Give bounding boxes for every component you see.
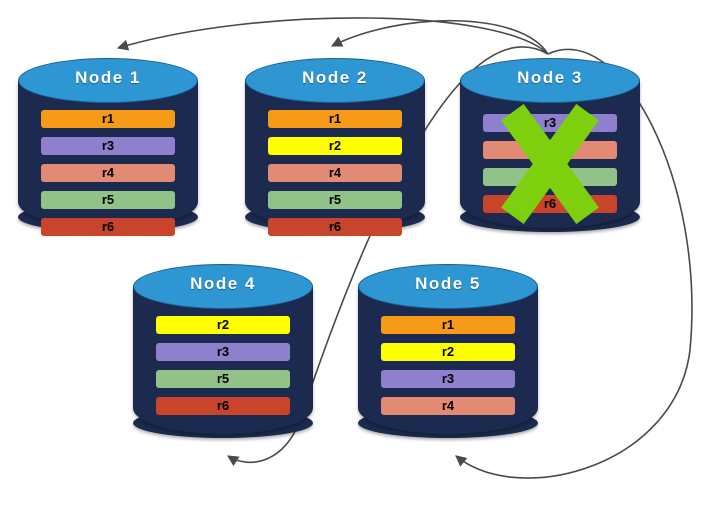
node-5[interactable]: Node 5r1r2r3r4 — [358, 264, 538, 440]
record-row[interactable]: r1 — [268, 110, 402, 128]
arrow-node3-to-node2 — [332, 21, 548, 54]
node-title: Node 5 — [358, 274, 538, 294]
record-row[interactable]: r1 — [41, 110, 175, 128]
arrow-node3-to-node1 — [118, 18, 548, 54]
record-list: r1r3r4r5r6 — [18, 110, 198, 245]
record-row[interactable]: r1 — [381, 316, 515, 334]
diagram-canvas: Node 1r1r3r4r5r6Node 2r1r2r4r5r6Node 3r3… — [0, 0, 708, 508]
record-row[interactable]: r5 — [41, 191, 175, 209]
node-title: Node 3 — [460, 68, 640, 88]
node-2[interactable]: Node 2r1r2r4r5r6 — [245, 58, 425, 234]
record-row[interactable]: r2 — [381, 343, 515, 361]
node-3[interactable]: Node 3r3r4r5r6 — [460, 58, 640, 234]
record-row[interactable]: r6 — [268, 218, 402, 236]
record-list: r1r2r3r4 — [358, 316, 538, 424]
node-title: Node 2 — [245, 68, 425, 88]
record-row[interactable]: r6 — [156, 397, 290, 415]
record-list: r1r2r4r5r6 — [245, 110, 425, 245]
node-1[interactable]: Node 1r1r3r4r5r6 — [18, 58, 198, 234]
record-row[interactable]: r3 — [41, 137, 175, 155]
node-4[interactable]: Node 4r2r3r5r6 — [133, 264, 313, 440]
record-row[interactable]: r3 — [381, 370, 515, 388]
record-row[interactable]: r6 — [41, 218, 175, 236]
record-row[interactable]: r2 — [268, 137, 402, 155]
record-row[interactable]: r4 — [381, 397, 515, 415]
record-row[interactable]: r5 — [268, 191, 402, 209]
record-row[interactable]: r2 — [156, 316, 290, 334]
record-list: r2r3r5r6 — [133, 316, 313, 424]
record-row[interactable]: r5 — [156, 370, 290, 388]
record-row[interactable]: r3 — [156, 343, 290, 361]
record-row[interactable]: r4 — [41, 164, 175, 182]
node-failure-x-icon — [492, 104, 608, 224]
node-title: Node 4 — [133, 274, 313, 294]
record-row[interactable]: r4 — [268, 164, 402, 182]
node-title: Node 1 — [18, 68, 198, 88]
